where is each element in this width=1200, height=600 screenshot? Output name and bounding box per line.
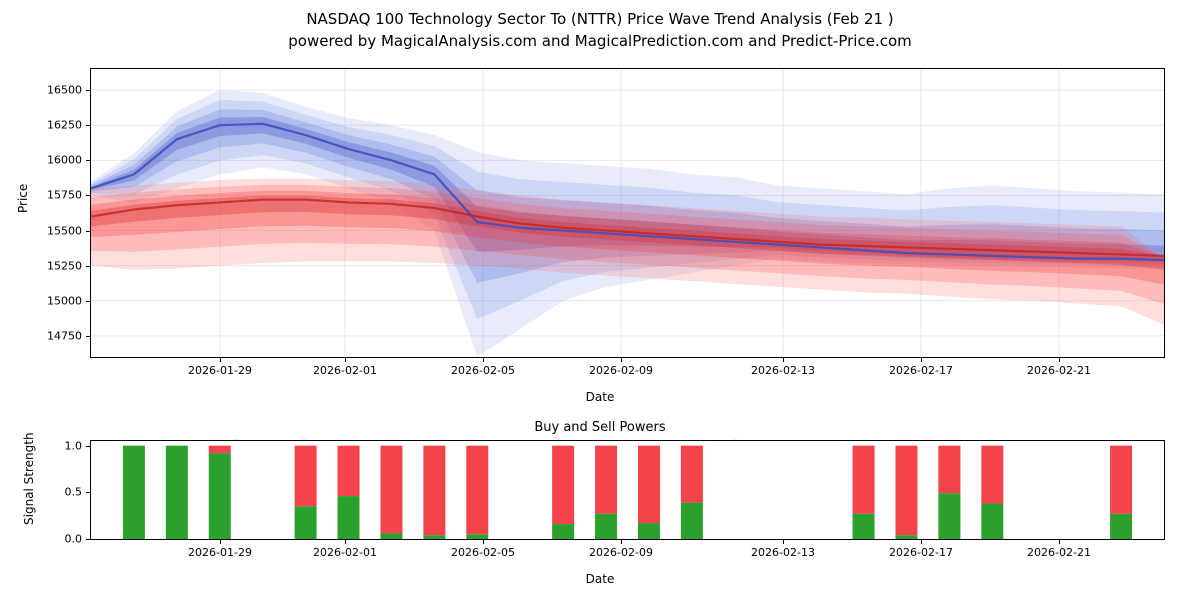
signal-y-tick-mark [86,446,90,447]
signal-bars [91,441,1164,539]
price-y-tick-mark [86,301,90,302]
price-x-tick-mark [1059,358,1060,362]
price-x-tick-mark [483,358,484,362]
price-y-tick-mark [86,90,90,91]
signal-x-tick-mark [921,540,922,544]
price-y-tick-label: 16000 [8,154,82,167]
signal-y-tick-mark [86,539,90,540]
signal-y-tick-label: 0.0 [8,533,82,546]
signal-y-tick-mark [86,492,90,493]
price-y-tick-mark [86,336,90,337]
signal-x-tick-label: 2026-02-13 [723,546,843,559]
price-wave-bands [91,69,1164,357]
signal-y-axis-label: Signal Strength [22,432,36,525]
price-y-tick-label: 16500 [8,84,82,97]
signal-x-tick-label: 2026-01-29 [160,546,280,559]
signal-bar-sell [380,446,402,534]
signal-bar-sell [938,446,960,494]
signal-x-tick-label: 2026-02-01 [285,546,405,559]
price-y-tick-mark [86,266,90,267]
signal-x-tick-mark [783,540,784,544]
signal-x-tick-mark [220,540,221,544]
price-x-axis-label: Date [0,390,1200,404]
signal-bar-buy [380,533,402,539]
signal-chart-title: Buy and Sell Powers [0,420,1200,435]
signal-x-tick-mark [483,540,484,544]
price-x-tick-label: 2026-02-13 [723,364,843,377]
signal-bar-sell [295,446,317,507]
signal-bar-sell [423,446,445,536]
signal-bar-buy [981,504,1003,539]
price-chart-plot-area [90,68,1165,358]
signal-bar-sell [895,446,917,536]
price-x-tick-mark [783,358,784,362]
signal-x-tick-label: 2026-02-05 [423,546,543,559]
signal-bar-buy [166,446,188,539]
signal-bar-sell [552,446,574,524]
signal-bar-sell [1110,446,1132,514]
signal-bar-buy [895,535,917,539]
price-y-tick-label: 15250 [8,259,82,272]
price-x-tick-label: 2026-02-17 [861,364,981,377]
signal-bar-sell [853,446,875,514]
chart-page: NASDAQ 100 Technology Sector To (NTTR) P… [0,0,1200,600]
signal-bar-buy [1110,514,1132,539]
price-x-tick-mark [921,358,922,362]
price-x-tick-mark [220,358,221,362]
signal-x-tick-mark [345,540,346,544]
price-y-axis-label: Price [16,184,30,213]
signal-x-tick-label: 2026-02-21 [999,546,1119,559]
price-y-tick-label: 15000 [8,294,82,307]
signal-bar-buy [209,453,231,539]
signal-bar-buy [595,514,617,539]
signal-bar-sell [981,446,1003,504]
signal-bar-buy [638,523,660,539]
signal-bar-buy [338,496,360,539]
price-x-tick-label: 2026-02-01 [285,364,405,377]
price-x-tick-label: 2026-01-29 [160,364,280,377]
price-y-tick-label: 14750 [8,329,82,342]
price-x-tick-label: 2026-02-05 [423,364,543,377]
signal-y-tick-label: 1.0 [8,439,82,452]
price-y-tick-mark [86,160,90,161]
signal-bar-buy [552,524,574,539]
signal-bar-sell [209,446,231,453]
signal-x-tick-mark [621,540,622,544]
signal-bar-buy [853,514,875,539]
signal-bar-buy [123,446,145,539]
page-subtitle: powered by MagicalAnalysis.com and Magic… [0,32,1200,50]
price-x-tick-mark [345,358,346,362]
price-x-tick-label: 2026-02-21 [999,364,1119,377]
signal-x-tick-mark [1059,540,1060,544]
signal-bar-sell [638,446,660,523]
signal-bar-sell [681,446,703,503]
price-y-tick-mark [86,231,90,232]
signal-bar-sell [466,446,488,535]
signal-bar-buy [423,535,445,539]
signal-bar-sell [595,446,617,514]
signal-bar-buy [681,503,703,539]
signal-bar-buy [938,493,960,539]
price-x-tick-label: 2026-02-09 [561,364,681,377]
signal-bar-sell [338,446,360,496]
price-y-tick-label: 16250 [8,119,82,132]
page-title: NASDAQ 100 Technology Sector To (NTTR) P… [0,10,1200,28]
signal-chart-plot-area [90,440,1165,540]
signal-y-tick-label: 0.5 [8,486,82,499]
signal-x-tick-label: 2026-02-17 [861,546,981,559]
price-x-tick-mark [621,358,622,362]
price-y-tick-mark [86,195,90,196]
price-y-tick-mark [86,125,90,126]
signal-x-axis-label: Date [0,572,1200,586]
signal-bar-buy [295,506,317,539]
signal-bar-buy [466,534,488,539]
signal-x-tick-label: 2026-02-09 [561,546,681,559]
price-y-tick-label: 15500 [8,224,82,237]
